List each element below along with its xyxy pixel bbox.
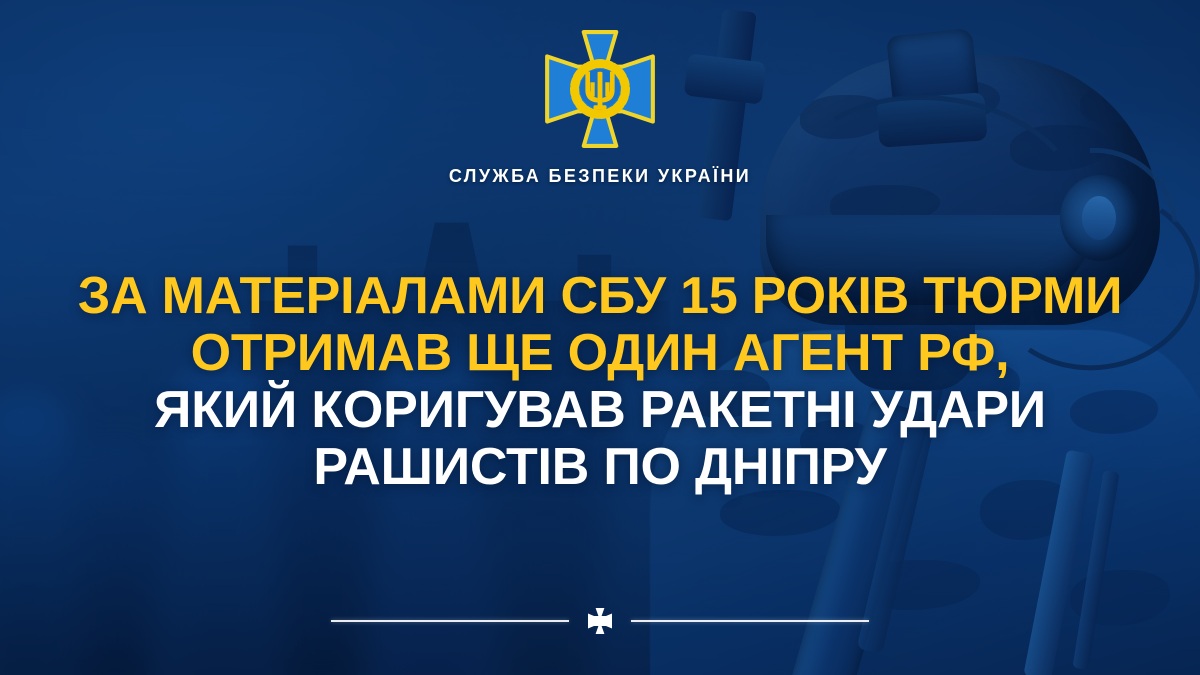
org-name: СЛУЖБА БЕЗПЕКИ УКРАЇНИ [449,166,751,187]
headline: ЗА МАТЕРІАЛАМИ СБУ 15 РОКІВ ТЮРМИ ОТРИМА… [0,268,1200,496]
brand-block: СЛУЖБА БЕЗПЕКИ УКРАЇНИ [0,28,1200,187]
headline-line-4: РАШИСТІВ ПО ДНІПРУ [18,439,1182,496]
divider-line-right [631,620,869,622]
headline-line-2: ОТРИМАВ ЩЕ ОДИН АГЕНТ РФ, [18,325,1182,382]
sbu-press-banner: СЛУЖБА БЕЗПЕКИ УКРАЇНИ ЗА МАТЕРІАЛАМИ СБ… [0,0,1200,675]
footer-divider [0,607,1200,635]
sbu-cross-trident-emblem [539,28,661,150]
small-cross-pattee-icon [587,607,613,635]
foreground-content: СЛУЖБА БЕЗПЕКИ УКРАЇНИ ЗА МАТЕРІАЛАМИ СБ… [0,0,1200,675]
headline-line-1: ЗА МАТЕРІАЛАМИ СБУ 15 РОКІВ ТЮРМИ [18,268,1182,325]
divider-line-left [331,620,569,622]
headline-line-3: ЯКИЙ КОРИГУВАВ РАКЕТНІ УДАРИ [18,382,1182,439]
